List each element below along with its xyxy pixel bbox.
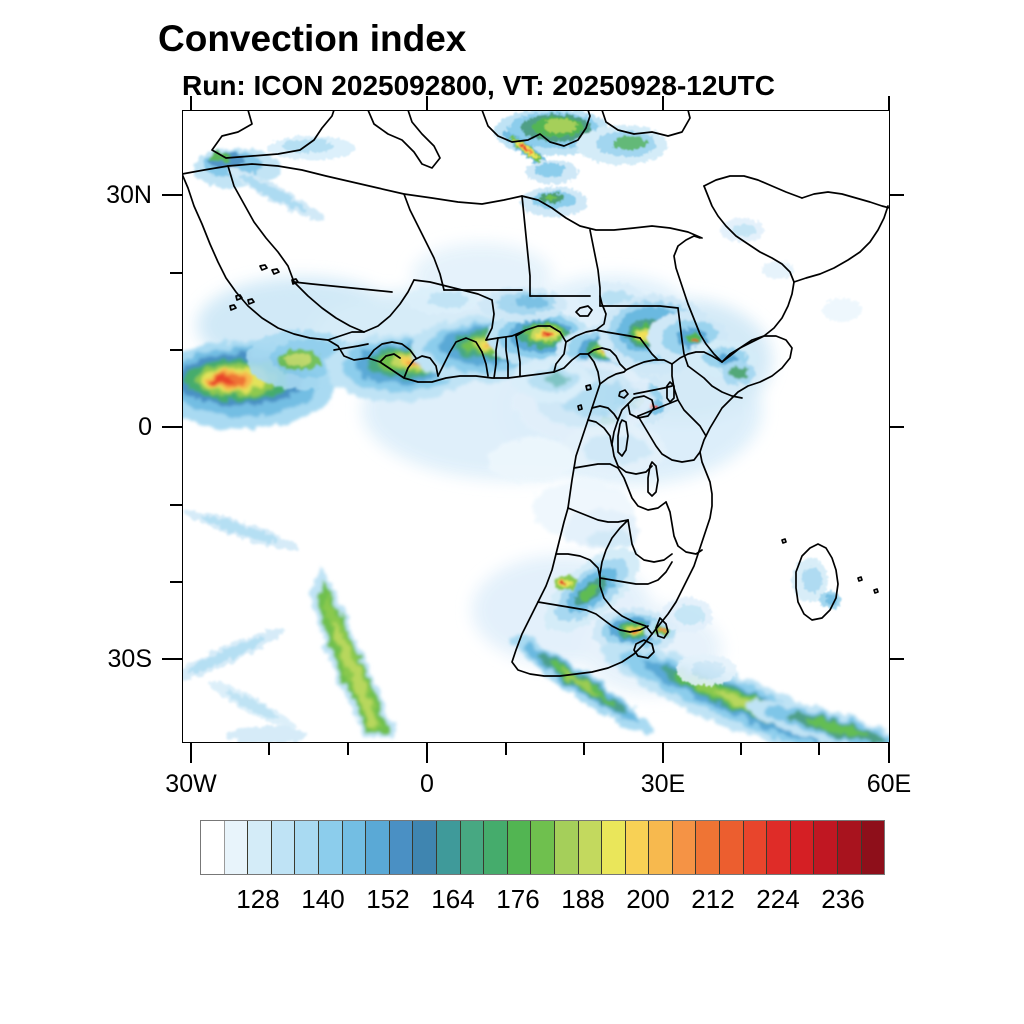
x-top-tick-30w xyxy=(190,96,192,110)
colorbar-cell-24 xyxy=(767,821,791,874)
x-major-tick-30w xyxy=(190,743,192,763)
x-top-tick-60e xyxy=(888,96,890,110)
colorbar-cell-10 xyxy=(437,821,461,874)
colorbar-cell-17 xyxy=(602,821,626,874)
y-major-tick-30n xyxy=(162,194,182,196)
y-minor-tick-20n xyxy=(170,272,182,274)
colorbar-cell-2 xyxy=(248,821,272,874)
colorbar-label-236: 236 xyxy=(793,884,893,915)
y-major-tick-30s xyxy=(162,658,182,660)
colorbar[interactable] xyxy=(200,820,885,875)
y-axis-label-30n: 30N xyxy=(34,181,152,210)
y-right-tick-30n xyxy=(890,194,904,196)
colorbar-cell-0 xyxy=(201,821,225,874)
colorbar-cell-5 xyxy=(319,821,343,874)
x-top-tick-0 xyxy=(426,96,428,110)
x-axis-label-0: 0 xyxy=(367,770,487,799)
y-axis-label-0: 0 xyxy=(34,413,152,442)
colorbar-cell-4 xyxy=(295,821,319,874)
colorbar-cell-13 xyxy=(508,821,532,874)
colorbar-cell-12 xyxy=(484,821,508,874)
y-right-tick-0 xyxy=(890,426,904,428)
map-plot-area xyxy=(182,110,890,743)
colorbar-cell-7 xyxy=(366,821,390,874)
x-minor-tick-20e xyxy=(583,743,585,755)
x-minor-tick-10w xyxy=(347,743,349,755)
colorbar-cell-9 xyxy=(413,821,437,874)
colorbar-cell-21 xyxy=(696,821,720,874)
x-minor-tick-20w xyxy=(268,743,270,755)
y-axis-label-30s: 30S xyxy=(34,645,152,674)
colorbar-cell-11 xyxy=(461,821,485,874)
colorbar-cell-8 xyxy=(390,821,414,874)
y-minor-tick-20s xyxy=(170,581,182,583)
y-minor-tick-10n xyxy=(170,349,182,351)
x-axis-label-30w: 30W xyxy=(131,770,251,799)
x-axis-label-60e: 60E xyxy=(829,770,949,799)
colorbar-cell-22 xyxy=(720,821,744,874)
x-minor-tick-50e xyxy=(818,743,820,755)
map-svg xyxy=(182,110,890,743)
colorbar-cell-16 xyxy=(579,821,603,874)
x-minor-tick-40e xyxy=(740,743,742,755)
colorbar-cell-25 xyxy=(791,821,815,874)
colorbar-cell-26 xyxy=(814,821,838,874)
x-top-tick-30e xyxy=(662,96,664,110)
colorbar-cell-15 xyxy=(555,821,579,874)
colorbar-cell-6 xyxy=(343,821,367,874)
y-right-tick-30s xyxy=(890,658,904,660)
colorbar-cell-1 xyxy=(225,821,249,874)
x-major-tick-30e xyxy=(662,743,664,763)
colorbar-cell-14 xyxy=(531,821,555,874)
x-axis-label-30e: 30E xyxy=(603,770,723,799)
colorbar-cell-19 xyxy=(649,821,673,874)
colorbar-cell-3 xyxy=(272,821,296,874)
y-major-tick-0 xyxy=(162,426,182,428)
x-major-tick-60e xyxy=(888,743,890,763)
y-minor-tick-10s xyxy=(170,504,182,506)
colorbar-cell-27 xyxy=(838,821,862,874)
colorbar-cell-18 xyxy=(626,821,650,874)
figure-subtitle: Run: ICON 2025092800, VT: 20250928-12UTC xyxy=(182,70,775,102)
colorbar-cell-23 xyxy=(744,821,768,874)
page-title: Convection index xyxy=(158,18,466,60)
figure-root: Convection index Run: ICON 2025092800, V… xyxy=(0,0,1024,1024)
colorbar-cell-20 xyxy=(673,821,697,874)
colorbar-cell-28 xyxy=(862,821,885,874)
x-minor-tick-10e xyxy=(505,743,507,755)
x-major-tick-0 xyxy=(426,743,428,763)
